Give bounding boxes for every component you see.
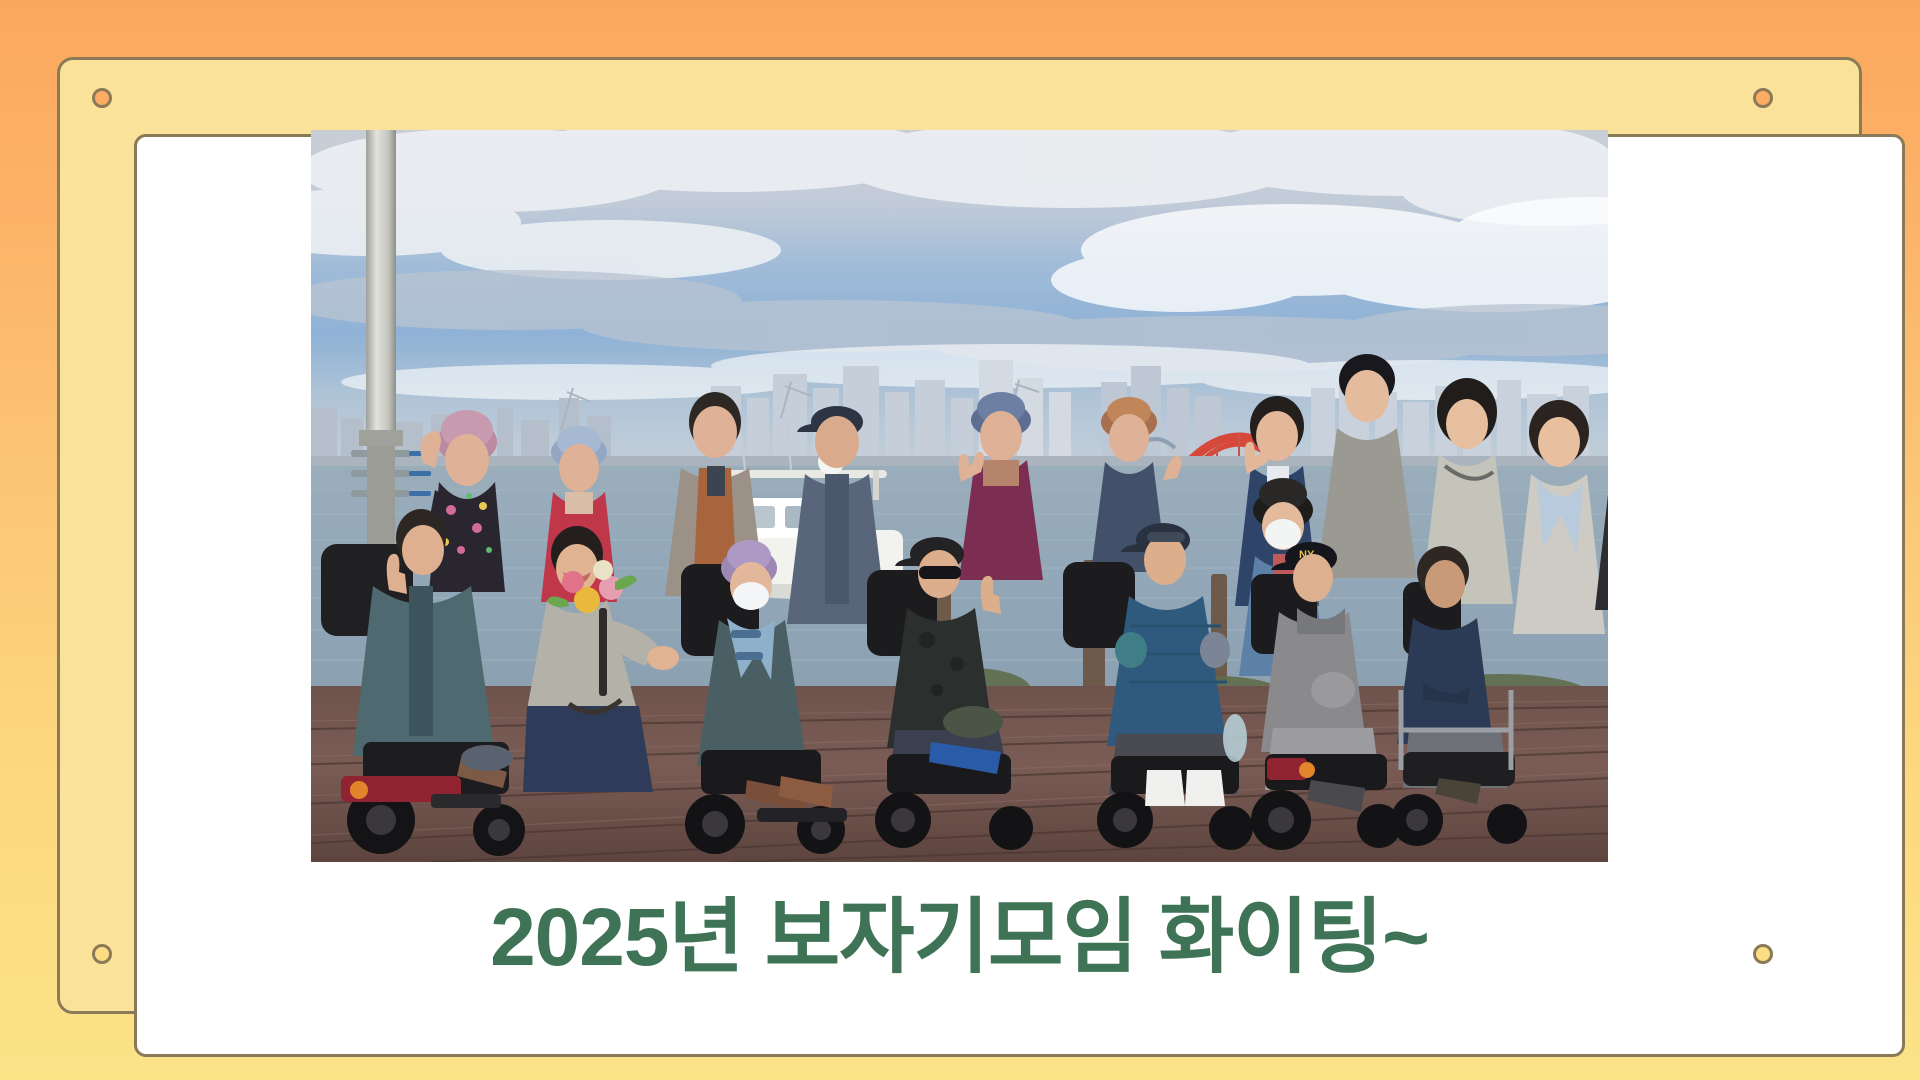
screw-top-right-icon (1753, 88, 1773, 108)
group-photo-illustration: NY (311, 130, 1608, 862)
poster-canvas: NY (0, 0, 1920, 1080)
group-photo: NY (311, 130, 1608, 862)
poster-caption: 2025년 보자기모임 화이팅~ (74, 862, 1845, 997)
screw-top-left-icon (92, 88, 112, 108)
